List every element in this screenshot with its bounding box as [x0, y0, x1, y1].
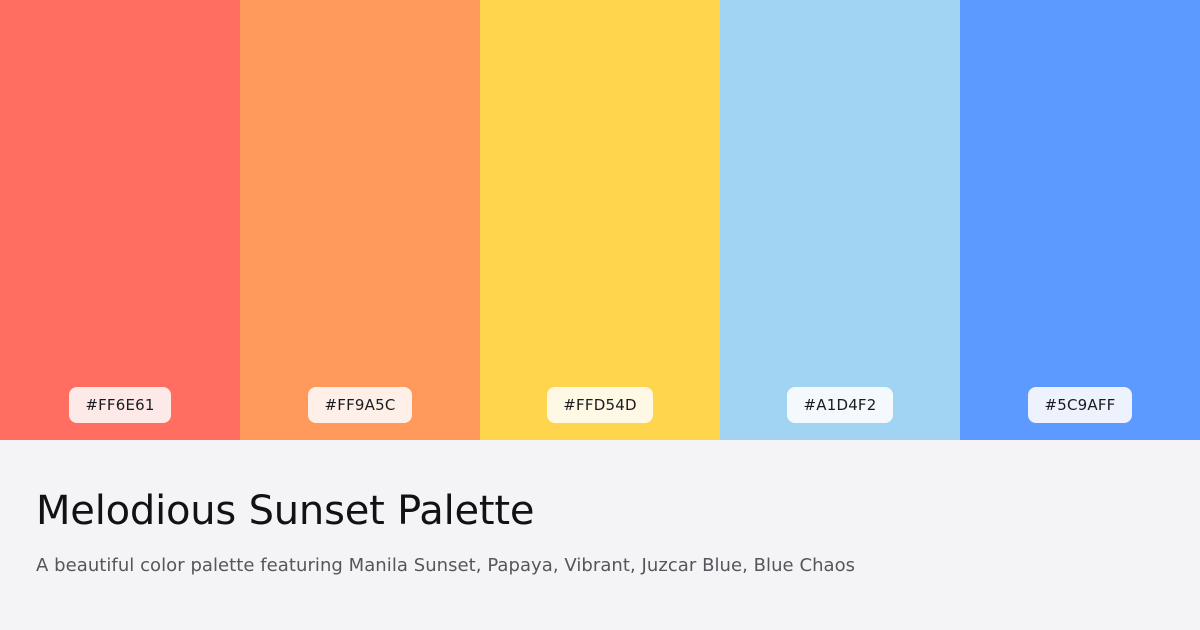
- color-swatch[interactable]: #FF9A5C: [240, 0, 480, 440]
- color-hex-chip[interactable]: #FF9A5C: [308, 387, 411, 423]
- page-title: Melodious Sunset Palette: [36, 490, 1164, 532]
- palette-page: #FF6E61 #FF9A5C #FFD54D #A1D4F2 #5C9AFF …: [0, 0, 1200, 630]
- color-swatch[interactable]: #FFD54D: [480, 0, 720, 440]
- color-swatch-strip: #FF6E61 #FF9A5C #FFD54D #A1D4F2 #5C9AFF: [0, 0, 1200, 440]
- color-hex-chip[interactable]: #FFD54D: [547, 387, 652, 423]
- color-swatch[interactable]: #5C9AFF: [960, 0, 1200, 440]
- color-swatch[interactable]: #FF6E61: [0, 0, 240, 440]
- color-hex-chip[interactable]: #FF6E61: [69, 387, 170, 423]
- color-hex-chip[interactable]: #A1D4F2: [787, 387, 892, 423]
- palette-description: A beautiful color palette featuring Mani…: [36, 554, 1164, 577]
- color-swatch[interactable]: #A1D4F2: [720, 0, 960, 440]
- palette-info-panel: Melodious Sunset Palette A beautiful col…: [0, 440, 1200, 630]
- color-hex-chip[interactable]: #5C9AFF: [1028, 387, 1131, 423]
